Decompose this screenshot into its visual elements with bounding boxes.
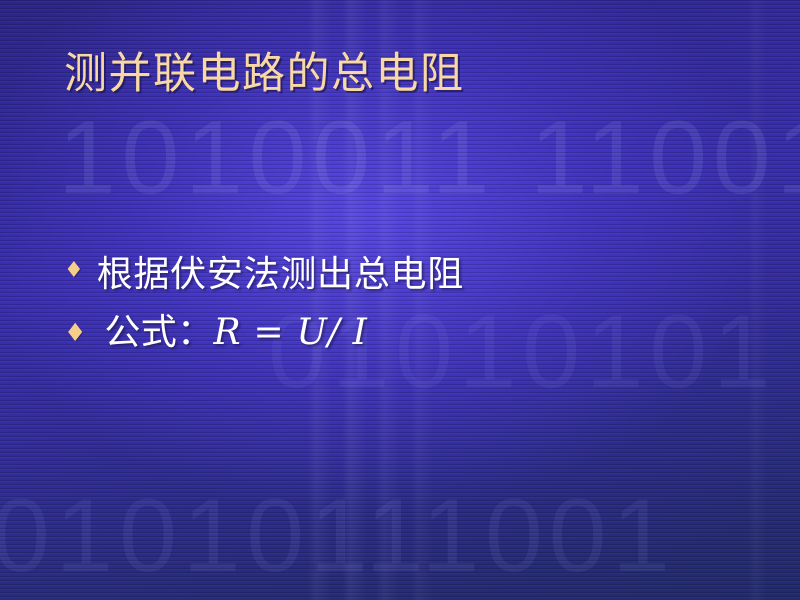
diamond-bullet-icon: ♦	[64, 248, 97, 282]
presentation-slide: 1010011 11001 01010101 01010111001 测并联电路…	[0, 0, 800, 600]
bullet-item-method: ♦ 根据伏安法测出总电阻	[64, 248, 764, 302]
bullet-text-method: 根据伏安法测出总电阻	[97, 248, 464, 302]
slide-title: 测并联电路的总电阻	[64, 48, 465, 102]
diamond-bullet-icon: ♦	[64, 306, 104, 345]
formula-label: 公式：	[104, 312, 213, 353]
bullet-text-formula: 公式：R = U/ I	[104, 306, 367, 360]
slide-content: 测并联电路的总电阻 ♦ 根据伏安法测出总电阻 ♦ 公式：R = U/ I	[0, 0, 800, 600]
formula-expression: R = U/ I	[214, 312, 368, 353]
bullet-item-formula: ♦ 公式：R = U/ I	[64, 306, 764, 360]
bullet-list: ♦ 根据伏安法测出总电阻 ♦ 公式：R = U/ I	[64, 248, 764, 360]
